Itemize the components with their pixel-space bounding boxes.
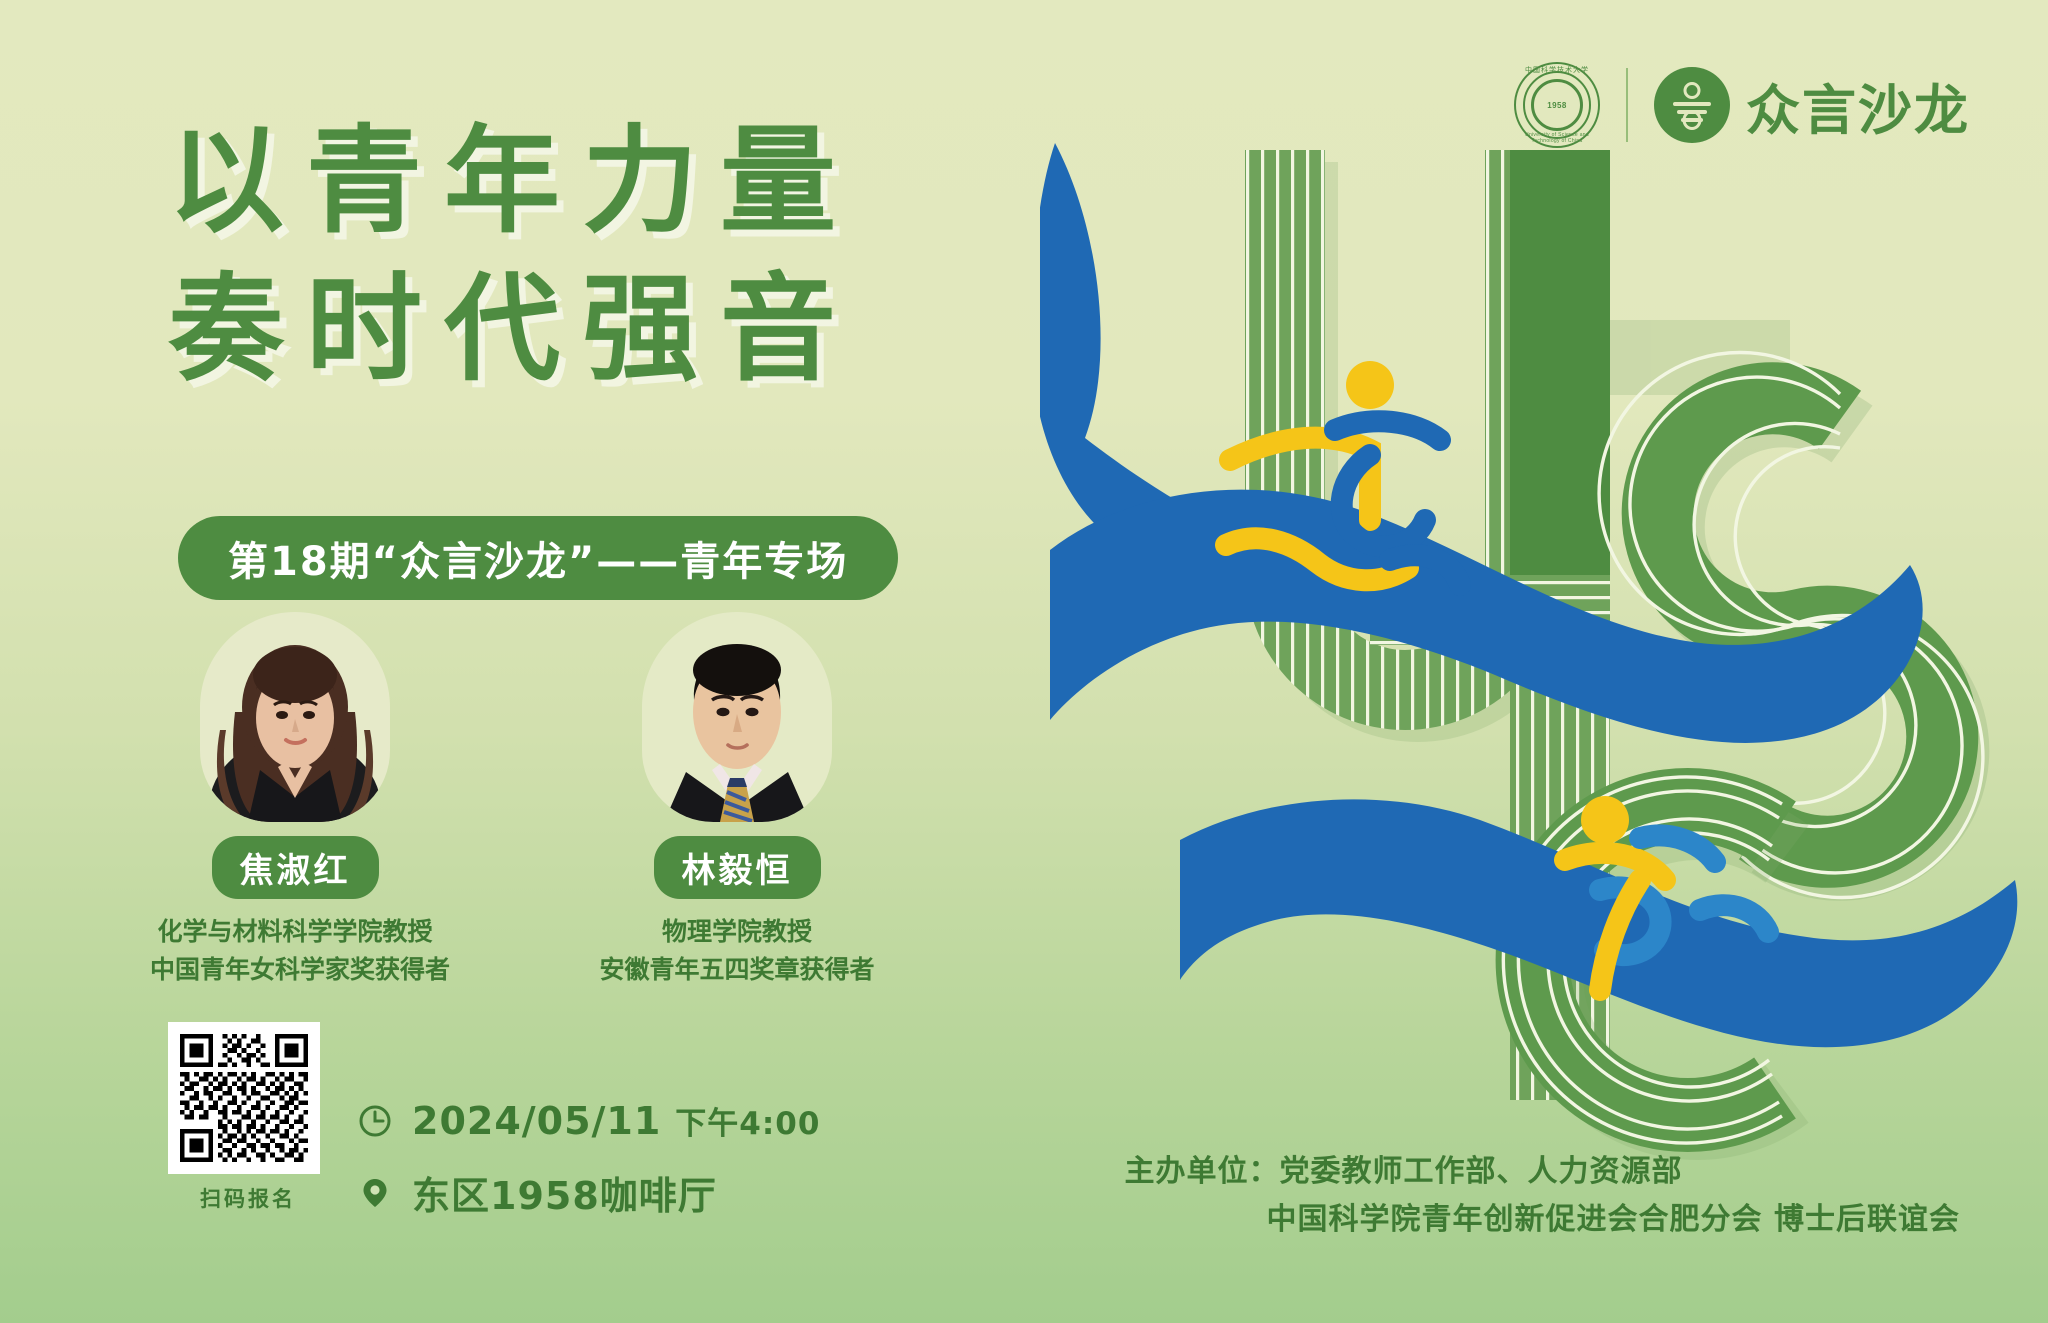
event-details: 2024/05/11下午4:00 东区1958咖啡厅 bbox=[358, 1098, 820, 1242]
header-logo-group: 中国科学技术大学 1958 University of Science and … bbox=[1514, 62, 1970, 148]
event-datetime-row: 2024/05/11下午4:00 bbox=[358, 1098, 820, 1143]
title-line-1: 以青年力量 bbox=[168, 108, 858, 256]
seal-year: 1958 bbox=[1547, 101, 1566, 110]
title-line-2: 奏时代强音 bbox=[168, 256, 858, 404]
speaker-photo-jiao-shuhong bbox=[200, 612, 390, 822]
speaker-desc-line-1: 物理学院教授 bbox=[592, 913, 882, 951]
registration-qr-block: 扫码报名 bbox=[168, 1022, 328, 1213]
event-location-row: 东区1958咖啡厅 bbox=[358, 1165, 820, 1220]
speaker-desc-line-2: 中国青年女科学家奖获得者 bbox=[150, 951, 440, 989]
speaker-name-badge: 焦淑红 bbox=[212, 836, 379, 899]
salon-mark-bottom-dot bbox=[1683, 110, 1702, 130]
salon-mark-top-dot bbox=[1684, 82, 1701, 99]
organizer-line-1: 主办单位：党委教师工作部、人力资源部 bbox=[1125, 1148, 1960, 1197]
speaker-list: 焦淑红 化学与材料科学学院教授 中国青年女科学家奖获得者 bbox=[150, 612, 882, 989]
logo-divider bbox=[1626, 68, 1628, 142]
speaker-card: 林毅恒 物理学院教授 安徽青年五四奖章获得者 bbox=[592, 612, 882, 989]
speaker-desc-line-2: 安徽青年五四奖章获得者 bbox=[592, 951, 882, 989]
event-date: 2024/05/11 bbox=[412, 1099, 661, 1143]
salon-brand-text: 众言沙龙 bbox=[1746, 66, 1970, 145]
speaker-description: 化学与材料科学学院教授 中国青年女科学家奖获得者 bbox=[150, 913, 440, 989]
seal-chinese-text: 中国科学技术大学 bbox=[1514, 65, 1600, 75]
event-time: 下午4:00 bbox=[675, 1106, 820, 1142]
event-poster: 中国科学技术大学 1958 University of Science and … bbox=[0, 0, 2048, 1323]
event-datetime: 2024/05/11下午4:00 bbox=[412, 1098, 820, 1143]
poster-title: 以青年力量 奏时代强音 bbox=[168, 108, 858, 405]
qr-code-image[interactable] bbox=[168, 1022, 320, 1174]
ustc-letterform-illustration bbox=[1040, 120, 2040, 1180]
organizer-block: 主办单位：党委教师工作部、人力资源部 中国科学院青年创新促进会合肥分会 博士后联… bbox=[1125, 1148, 1960, 1245]
ustc-seal: 中国科学技术大学 1958 University of Science and … bbox=[1514, 62, 1600, 148]
qr-caption: 扫码报名 bbox=[168, 1183, 328, 1213]
speaker-description: 物理学院教授 安徽青年五四奖章获得者 bbox=[592, 913, 882, 989]
clock-icon bbox=[358, 1104, 392, 1138]
organizer-line-2: 中国科学院青年创新促进会合肥分会 博士后联谊会 bbox=[1125, 1196, 1960, 1245]
speaker-photo-lin-yiheng bbox=[642, 612, 832, 822]
seal-inner-emblem: 1958 bbox=[1531, 79, 1583, 131]
salon-logo: 众言沙龙 bbox=[1654, 66, 1970, 145]
speaker-name-badge: 林毅恒 bbox=[654, 836, 821, 899]
seal-english-text: University of Science and Technology of … bbox=[1514, 132, 1600, 144]
speaker-card: 焦淑红 化学与材料科学学院教授 中国青年女科学家奖获得者 bbox=[150, 612, 440, 989]
event-location: 东区1958咖啡厅 bbox=[412, 1165, 717, 1220]
zhongyan-salon-mark-icon bbox=[1654, 67, 1730, 143]
location-pin-icon bbox=[358, 1176, 392, 1210]
speaker-desc-line-1: 化学与材料科学学院教授 bbox=[150, 913, 440, 951]
salon-mark-bar-1 bbox=[1673, 102, 1711, 106]
subtitle-banner: 第18期“众言沙龙”——青年专场 bbox=[178, 516, 898, 600]
